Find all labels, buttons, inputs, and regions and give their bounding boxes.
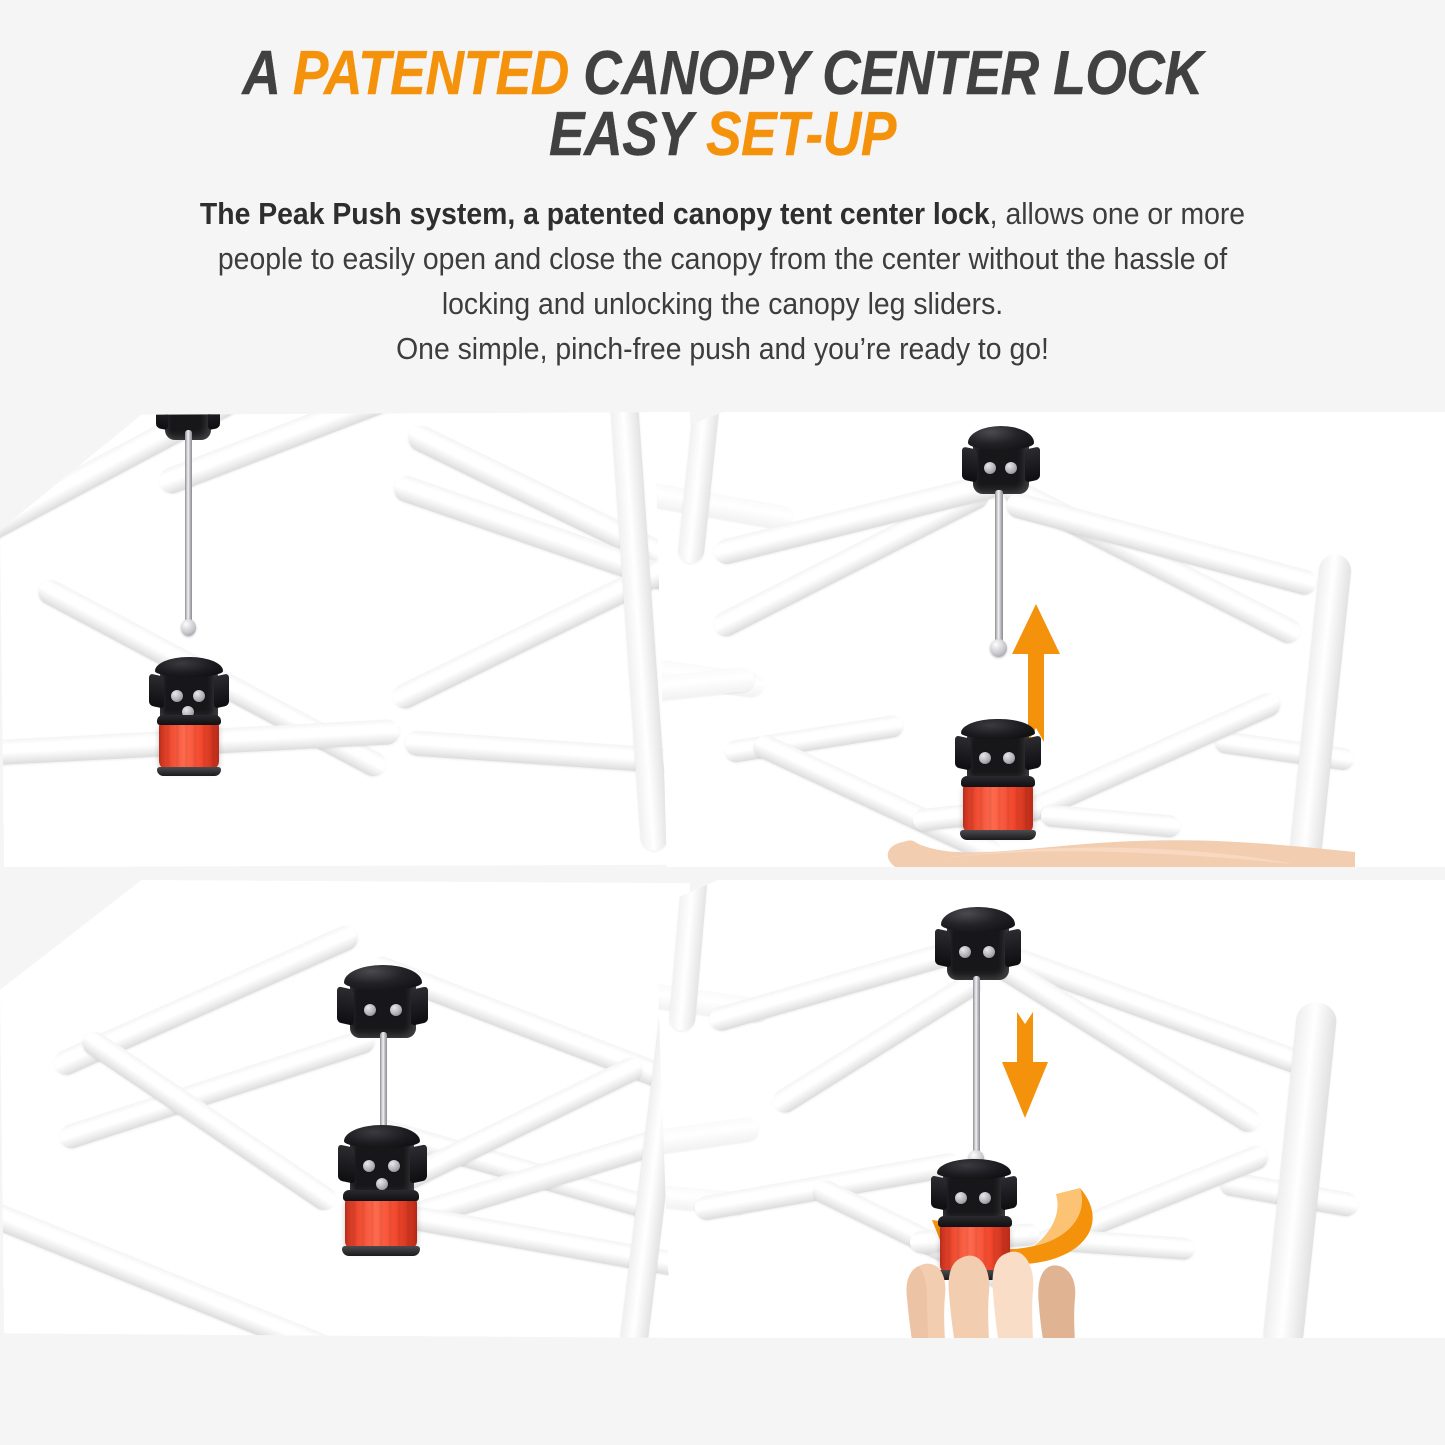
title-text-a: A [242,39,292,108]
description-paragraph: The Peak Push system, a patented canopy … [95,192,1350,372]
arrow-down-icon [1000,1010,1050,1120]
push-rod-tip [990,639,1007,657]
hub-screw [959,946,971,958]
frame-tube-crossbar [1213,730,1355,771]
description-bold-lead: The Peak Push system, a patented canopy … [200,197,990,231]
hub-wing-right [411,986,428,1026]
hub-wing-right [1005,928,1021,967]
hub-wing-right [1025,736,1041,772]
center-lock-hub [967,730,1029,782]
title-text-easy: EASY [549,100,706,169]
hub-screw [388,1160,400,1172]
center-lock-hub [943,1170,1005,1222]
panel-2-content [655,412,1445,867]
frame-tube-rafter [1004,490,1320,597]
page-title: A PATENTED CANOPY CENTER LOCK EASY SET-U… [0,44,1445,166]
frame-tube-leg [677,412,723,564]
push-rod-tip [181,619,196,636]
panel-3-content [0,880,690,1338]
product-photo-panel-open-frame [0,412,690,867]
description-line-3: locking and unlocking the canopy leg sli… [139,282,1306,327]
hub-wing-right [1025,446,1040,483]
push-rod [995,490,1003,645]
hub-wing-left [962,446,977,483]
hub-screw [955,1192,967,1204]
product-photo-panel-twist-release [655,880,1445,1338]
hub-screw [983,946,995,958]
hub-wing-left [338,1144,355,1183]
description-line-4: One simple, pinch-free push and you’re r… [139,327,1306,372]
description-line-1: The Peak Push system, a patented canopy … [139,192,1306,237]
hub-wing-right [208,412,220,431]
hub-wing-right [1001,1176,1017,1212]
product-photo-panel-locked [0,880,690,1338]
title-text-canopy-center-lock: CANOPY CENTER LOCK [569,39,1203,108]
hub-wing-left [955,736,971,772]
frame-tube-rafter [655,1116,760,1162]
title-highlight-set-up: SET-UP [706,100,896,169]
upper-hub [973,440,1029,494]
upper-hub [947,922,1009,980]
center-lock-hub [160,668,218,720]
hub-screw [364,1004,376,1016]
hub-screw [979,1192,991,1204]
panel-1-content [0,412,690,867]
hub-wing-left [935,928,951,967]
upper-hub [350,980,416,1038]
panel-4-content [655,880,1445,1338]
hand-open-palm [885,808,1355,867]
center-lock-hub [350,1138,414,1196]
page-title-line-1: A PATENTED CANOPY CENTER LOCK [101,44,1344,105]
hub-wing-left [149,674,164,709]
push-rod [185,430,192,625]
hub-screw [193,690,205,702]
hub-wing-left [931,1176,947,1212]
description-line-2: people to easily open and close the cano… [139,237,1306,282]
frame-tube-rafter [655,476,794,531]
hub-screw [376,1178,388,1190]
hub-screw [1003,752,1015,764]
hub-wing-right [410,1144,427,1183]
red-center-lock[interactable] [159,720,219,770]
red-center-lock[interactable] [345,1196,417,1250]
hub-screw [390,1004,402,1016]
hand-pinch-fingers [895,1240,1145,1338]
product-photo-panel-push-up [655,412,1445,867]
frame-tube-rafter [0,412,441,566]
hub-screw [1005,462,1017,474]
title-highlight-patented: PATENTED [293,39,569,108]
hub-wing-right [214,674,229,709]
hub-wing-left [156,412,168,431]
hub-screw [363,1160,375,1172]
push-rod [973,976,980,1156]
description-line-1-rest: , allows one or more [990,197,1245,231]
hub-screw [984,462,996,474]
hub-wing-left [337,986,354,1026]
page-title-line-2: EASY SET-UP [101,105,1344,166]
hub-screw [979,752,991,764]
hub-screw [171,690,183,702]
